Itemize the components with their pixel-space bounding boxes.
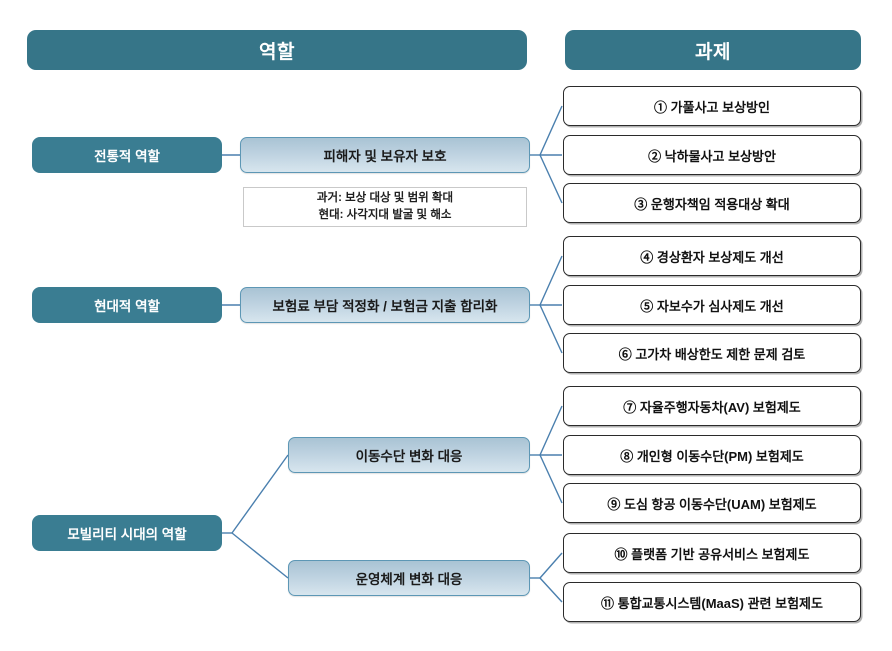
mid-box-premium-rationalization-label: 보험료 부담 적정화 / 보험금 지출 합리화	[273, 295, 498, 315]
mid-box-victim-protection[interactable]: 피해자 및 보유자 보호	[240, 137, 530, 173]
mid-box-mobility-change-label: 이동수단 변화 대응	[356, 445, 463, 465]
connector-mid-mobility-to-task-7	[540, 406, 562, 455]
task-box-6[interactable]: ⑥ 고가차 배상한도 제한 문제 검토	[563, 333, 861, 373]
task-box-11[interactable]: ⑪ 통합교통시스템(MaaS) 관련 보험제도	[563, 582, 861, 622]
connector-mid-operating-to-task-11	[540, 578, 562, 602]
connector-role-mobility-to-mobility-change	[232, 455, 288, 533]
connector-role-mobility-to-operating-change	[232, 533, 288, 578]
note-victim-protection: 과거: 보상 대상 및 범위 확대 현대: 사각지대 발굴 및 해소	[243, 187, 527, 227]
role-pill-mobility-label: 모빌리티 시대의 역할	[67, 523, 186, 543]
role-pill-modern-label: 현대적 역할	[94, 295, 160, 315]
task-box-1[interactable]: ① 가풀사고 보상방인	[563, 86, 861, 126]
connector-mid-operating-to-task-10	[540, 553, 562, 578]
role-pill-traditional-label: 전통적 역할	[94, 145, 160, 165]
task-box-7-label: ⑦ 자율주행자동차(AV) 보험제도	[623, 397, 801, 416]
role-pill-mobility[interactable]: 모빌리티 시대의 역할	[32, 515, 222, 551]
mid-box-operating-system-change-label: 운영체계 변화 대응	[356, 568, 463, 588]
task-box-7[interactable]: ⑦ 자율주행자동차(AV) 보험제도	[563, 386, 861, 426]
connector-mid-premium-to-task-6	[540, 305, 562, 353]
connector-mid-victim-to-task-1	[540, 106, 562, 155]
task-box-6-label: ⑥ 고가차 배상한도 제한 문제 검토	[619, 344, 806, 363]
task-box-11-label: ⑪ 통합교통시스템(MaaS) 관련 보험제도	[601, 593, 823, 612]
mid-box-premium-rationalization[interactable]: 보험료 부담 적정화 / 보험금 지출 합리화	[240, 287, 530, 323]
task-box-9-label: ⑨ 도심 항공 이동수단(UAM) 보험제도	[607, 494, 816, 513]
task-box-8-label: ⑧ 개인형 이동수단(PM) 보험제도	[620, 446, 804, 465]
task-box-10-label: ⑩ 플랫폼 기반 공유서비스 보험제도	[615, 544, 810, 563]
mid-box-victim-protection-label: 피해자 및 보유자 보호	[323, 145, 446, 165]
role-pill-traditional[interactable]: 전통적 역할	[32, 137, 222, 173]
task-box-5[interactable]: ⑤ 자보수가 심사제도 개선	[563, 285, 861, 325]
connector-mid-mobility-to-task-9	[540, 455, 562, 503]
task-box-2-label: ② 낙하물사고 보상방안	[648, 146, 776, 165]
task-box-1-label: ① 가풀사고 보상방인	[654, 97, 770, 116]
task-box-5-label: ⑤ 자보수가 심사제도 개선	[640, 296, 783, 315]
task-box-10[interactable]: ⑩ 플랫폼 기반 공유서비스 보험제도	[563, 533, 861, 573]
task-box-2[interactable]: ② 낙하물사고 보상방안	[563, 135, 861, 175]
column-header-tasks: 과제	[565, 30, 861, 70]
role-pill-modern[interactable]: 현대적 역할	[32, 287, 222, 323]
diagram-canvas: 역할 과제 전통적 역할 현대적 역할 모빌리티 시대의 역할 피해자 및 보유…	[0, 0, 892, 651]
task-box-4[interactable]: ④ 경상환자 보상제도 개선	[563, 236, 861, 276]
mid-box-mobility-change[interactable]: 이동수단 변화 대응	[288, 437, 530, 473]
column-header-roles-label: 역할	[259, 37, 295, 64]
task-box-9[interactable]: ⑨ 도심 항공 이동수단(UAM) 보험제도	[563, 483, 861, 523]
task-box-3-label: ③ 운행자책임 적용대상 확대	[634, 194, 789, 213]
task-box-8[interactable]: ⑧ 개인형 이동수단(PM) 보험제도	[563, 435, 861, 475]
note-line-present: 현대: 사각지대 발굴 및 해소	[319, 207, 452, 224]
column-header-roles: 역할	[27, 30, 527, 70]
connector-mid-premium-to-task-4	[540, 256, 562, 305]
note-line-past: 과거: 보상 대상 및 범위 확대	[317, 190, 453, 207]
mid-box-operating-system-change[interactable]: 운영체계 변화 대응	[288, 560, 530, 596]
column-header-tasks-label: 과제	[695, 37, 731, 64]
task-box-4-label: ④ 경상환자 보상제도 개선	[640, 247, 783, 266]
connector-mid-victim-to-task-3	[540, 155, 562, 203]
task-box-3[interactable]: ③ 운행자책임 적용대상 확대	[563, 183, 861, 223]
